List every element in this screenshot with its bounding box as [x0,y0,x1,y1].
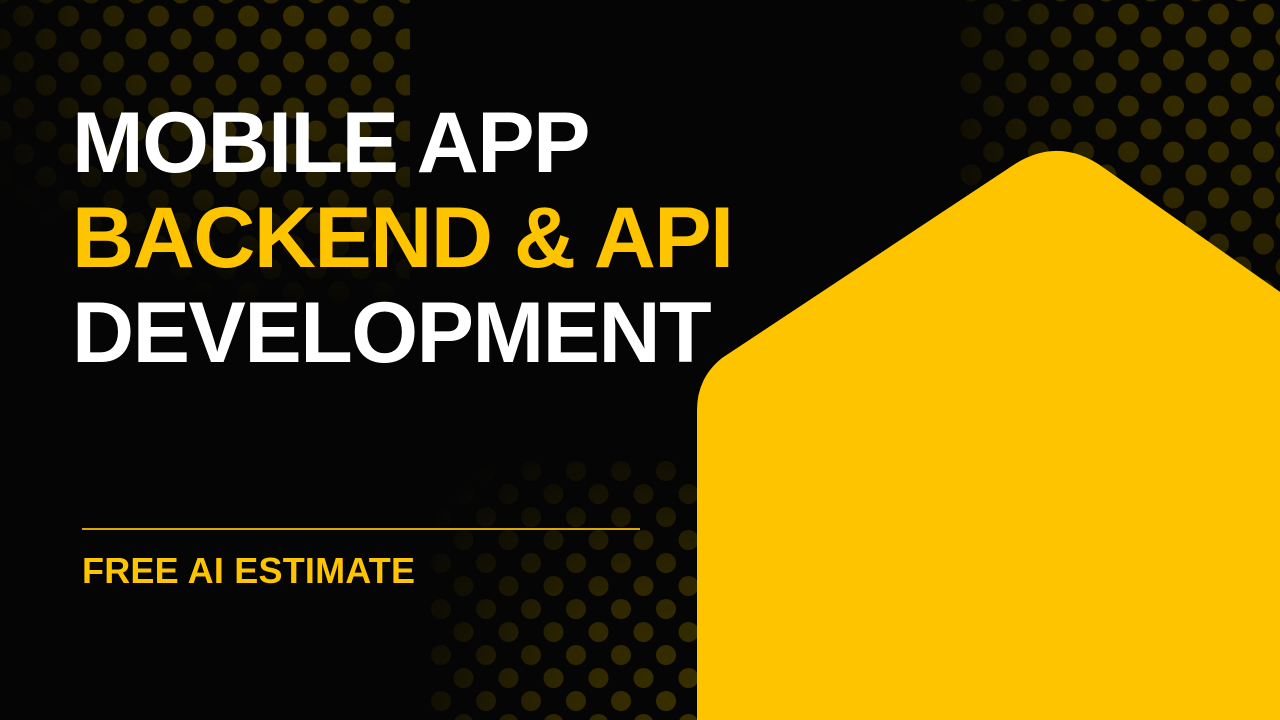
promo-banner: MOBILE APP BACKEND & API DEVELOPMENT FRE… [0,0,1280,720]
yellow-pentagon-shape [660,120,1280,720]
headline-line-3: DEVELOPMENT [72,286,733,381]
free-ai-estimate-label: FREE AI ESTIMATE [82,549,415,593]
headline-line-2: BACKEND & API [72,191,733,286]
divider-rule [82,528,640,530]
headline-line-1: MOBILE APP [72,96,733,191]
headline-block: MOBILE APP BACKEND & API DEVELOPMENT [72,96,733,381]
